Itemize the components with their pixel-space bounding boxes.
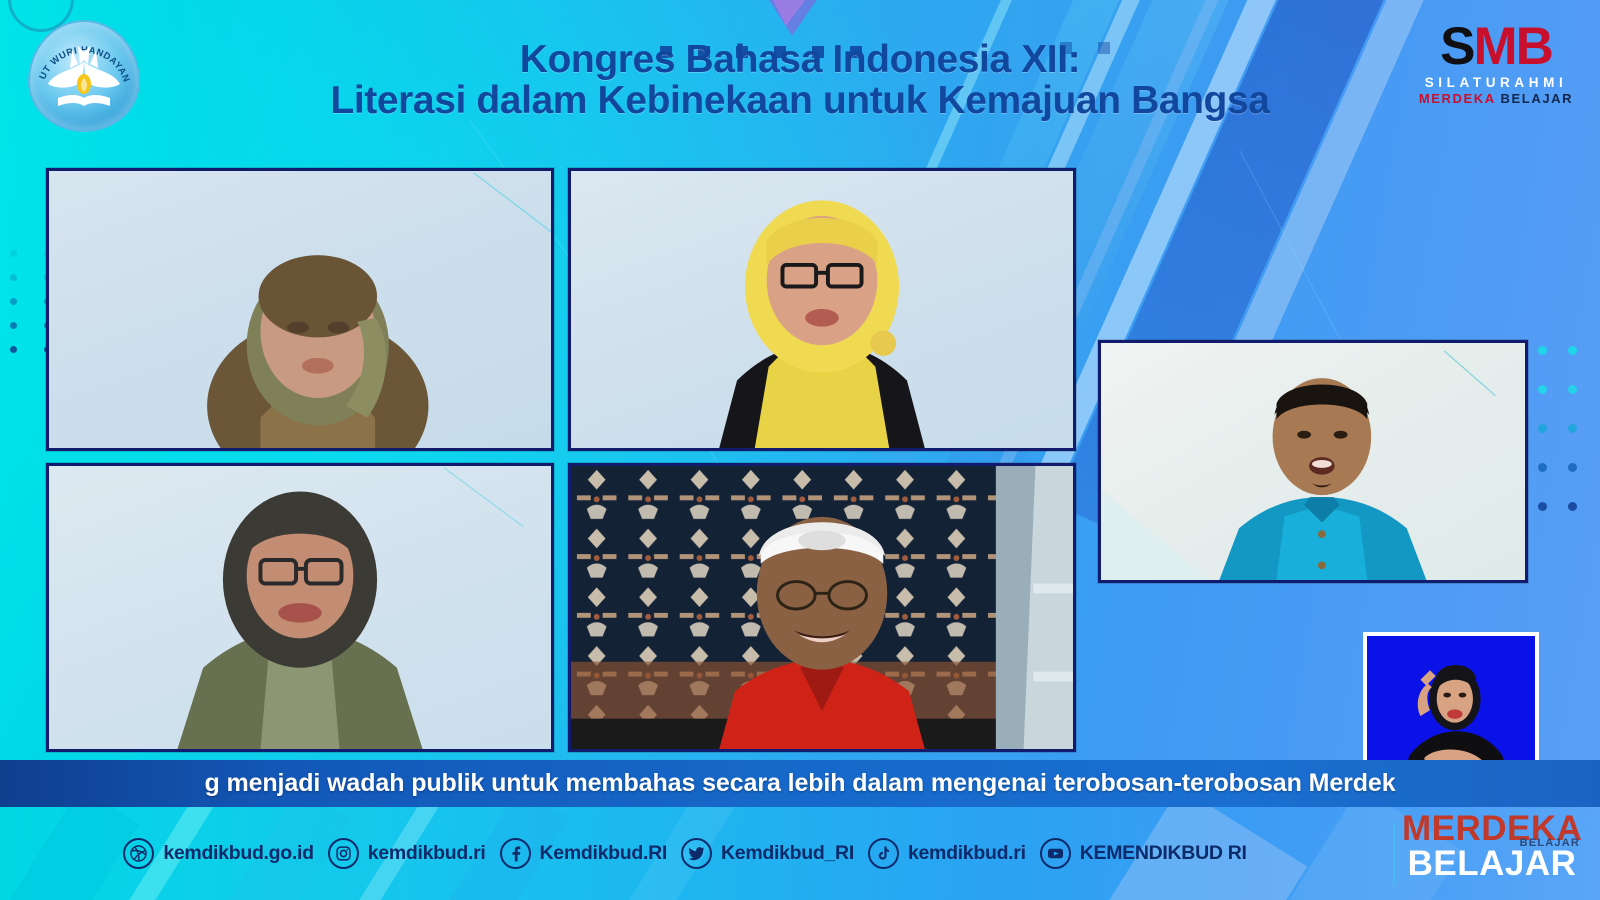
title-line-1: Kongres Bahasa Indonesia XII: [520,38,1081,81]
participant-image [49,171,551,448]
social-link-tiktok[interactable]: kemdikbud.ri [868,838,1026,869]
social-label-twitter: Kemdikbud_RI [721,842,854,865]
social-links-row: kemdikbud.go.id kemdikbud.ri Kemdikbud.R… [0,807,1600,900]
video-feed [571,466,1073,749]
merdeka-belajar-logo: MERDEKA BELAJAR BELAJAR [1402,812,1582,894]
instagram-icon [328,838,359,869]
smb-letter-b: B [1516,17,1552,76]
participant-image [1101,343,1525,580]
page-title: Kongres Bahasa Indonesia XII: Literasi d… [200,40,1400,121]
merdeka-line-2: BELAJAR [1402,847,1582,881]
broadcast-stage: TUT WURI HANDAYANI Kongres Bahasa Indone… [0,0,1600,900]
social-link-instagram[interactable]: kemdikbud.ri [328,838,486,869]
twitter-icon [681,838,712,869]
participant-image [49,466,551,749]
video-feed [49,171,551,448]
footer-divider [1393,822,1395,884]
social-link-facebook[interactable]: Kemdikbud.RI [500,838,668,869]
facebook-icon [500,838,531,869]
right-dot-grid [1538,346,1592,511]
smb-tagline-belajar: BELAJAR [1501,91,1574,106]
logo-motto-arc: TUT WURI HANDAYANI [28,20,140,132]
participant-tile-1[interactable] [46,168,554,451]
smb-tagline-top: SILATURAHMI [1412,75,1580,90]
social-label-instagram: kemdikbud.ri [368,842,486,865]
participant-tile-3[interactable] [46,463,554,752]
participant-image [571,466,1073,749]
smb-tagline-bottom: MERDEKA BELAJAR [1412,91,1580,106]
video-feed [1101,343,1525,580]
header: TUT WURI HANDAYANI Kongres Bahasa Indone… [0,0,1600,150]
smb-letter-s: S [1440,17,1473,76]
youtube-icon [1040,838,1071,869]
merdeka-line-1: MERDEKA BELAJAR [1402,812,1582,845]
social-label-facebook: Kemdikbud.RI [540,842,668,865]
website-icon [123,838,154,869]
social-label-website: kemdikbud.go.id [163,842,313,865]
ministry-logo: TUT WURI HANDAYANI [28,20,140,132]
title-line-2: Literasi dalam Kebinekaan untuk Kemajuan… [200,81,1400,122]
smb-letter-m: M [1473,17,1515,76]
caption-text: g menjadi wadah publik untuk membahas se… [0,769,1600,798]
participant-tile-2[interactable] [568,168,1076,451]
social-link-twitter[interactable]: Kemdikbud_RI [681,838,854,869]
social-link-website[interactable]: kemdikbud.go.id [123,838,313,869]
merdeka-sub-word: BELAJAR [1520,838,1580,848]
smb-letters: SMB [1412,22,1580,73]
video-feed [571,171,1073,448]
social-label-tiktok: kemdikbud.ri [908,842,1026,865]
participant-tile-5[interactable] [1098,340,1528,583]
social-link-youtube[interactable]: KEMENDIKBUD RI [1040,838,1247,869]
caption-bar: g menjadi wadah publik untuk membahas se… [0,760,1600,807]
smb-logo: SMB SILATURAHMI MERDEKA BELAJAR [1412,22,1580,120]
tiktok-icon [868,838,899,869]
social-label-youtube: KEMENDIKBUD RI [1080,842,1247,865]
participant-image [571,171,1073,448]
participant-tile-4[interactable] [568,463,1076,752]
smb-tagline-merdeka: MERDEKA [1419,91,1495,106]
video-feed [49,466,551,749]
